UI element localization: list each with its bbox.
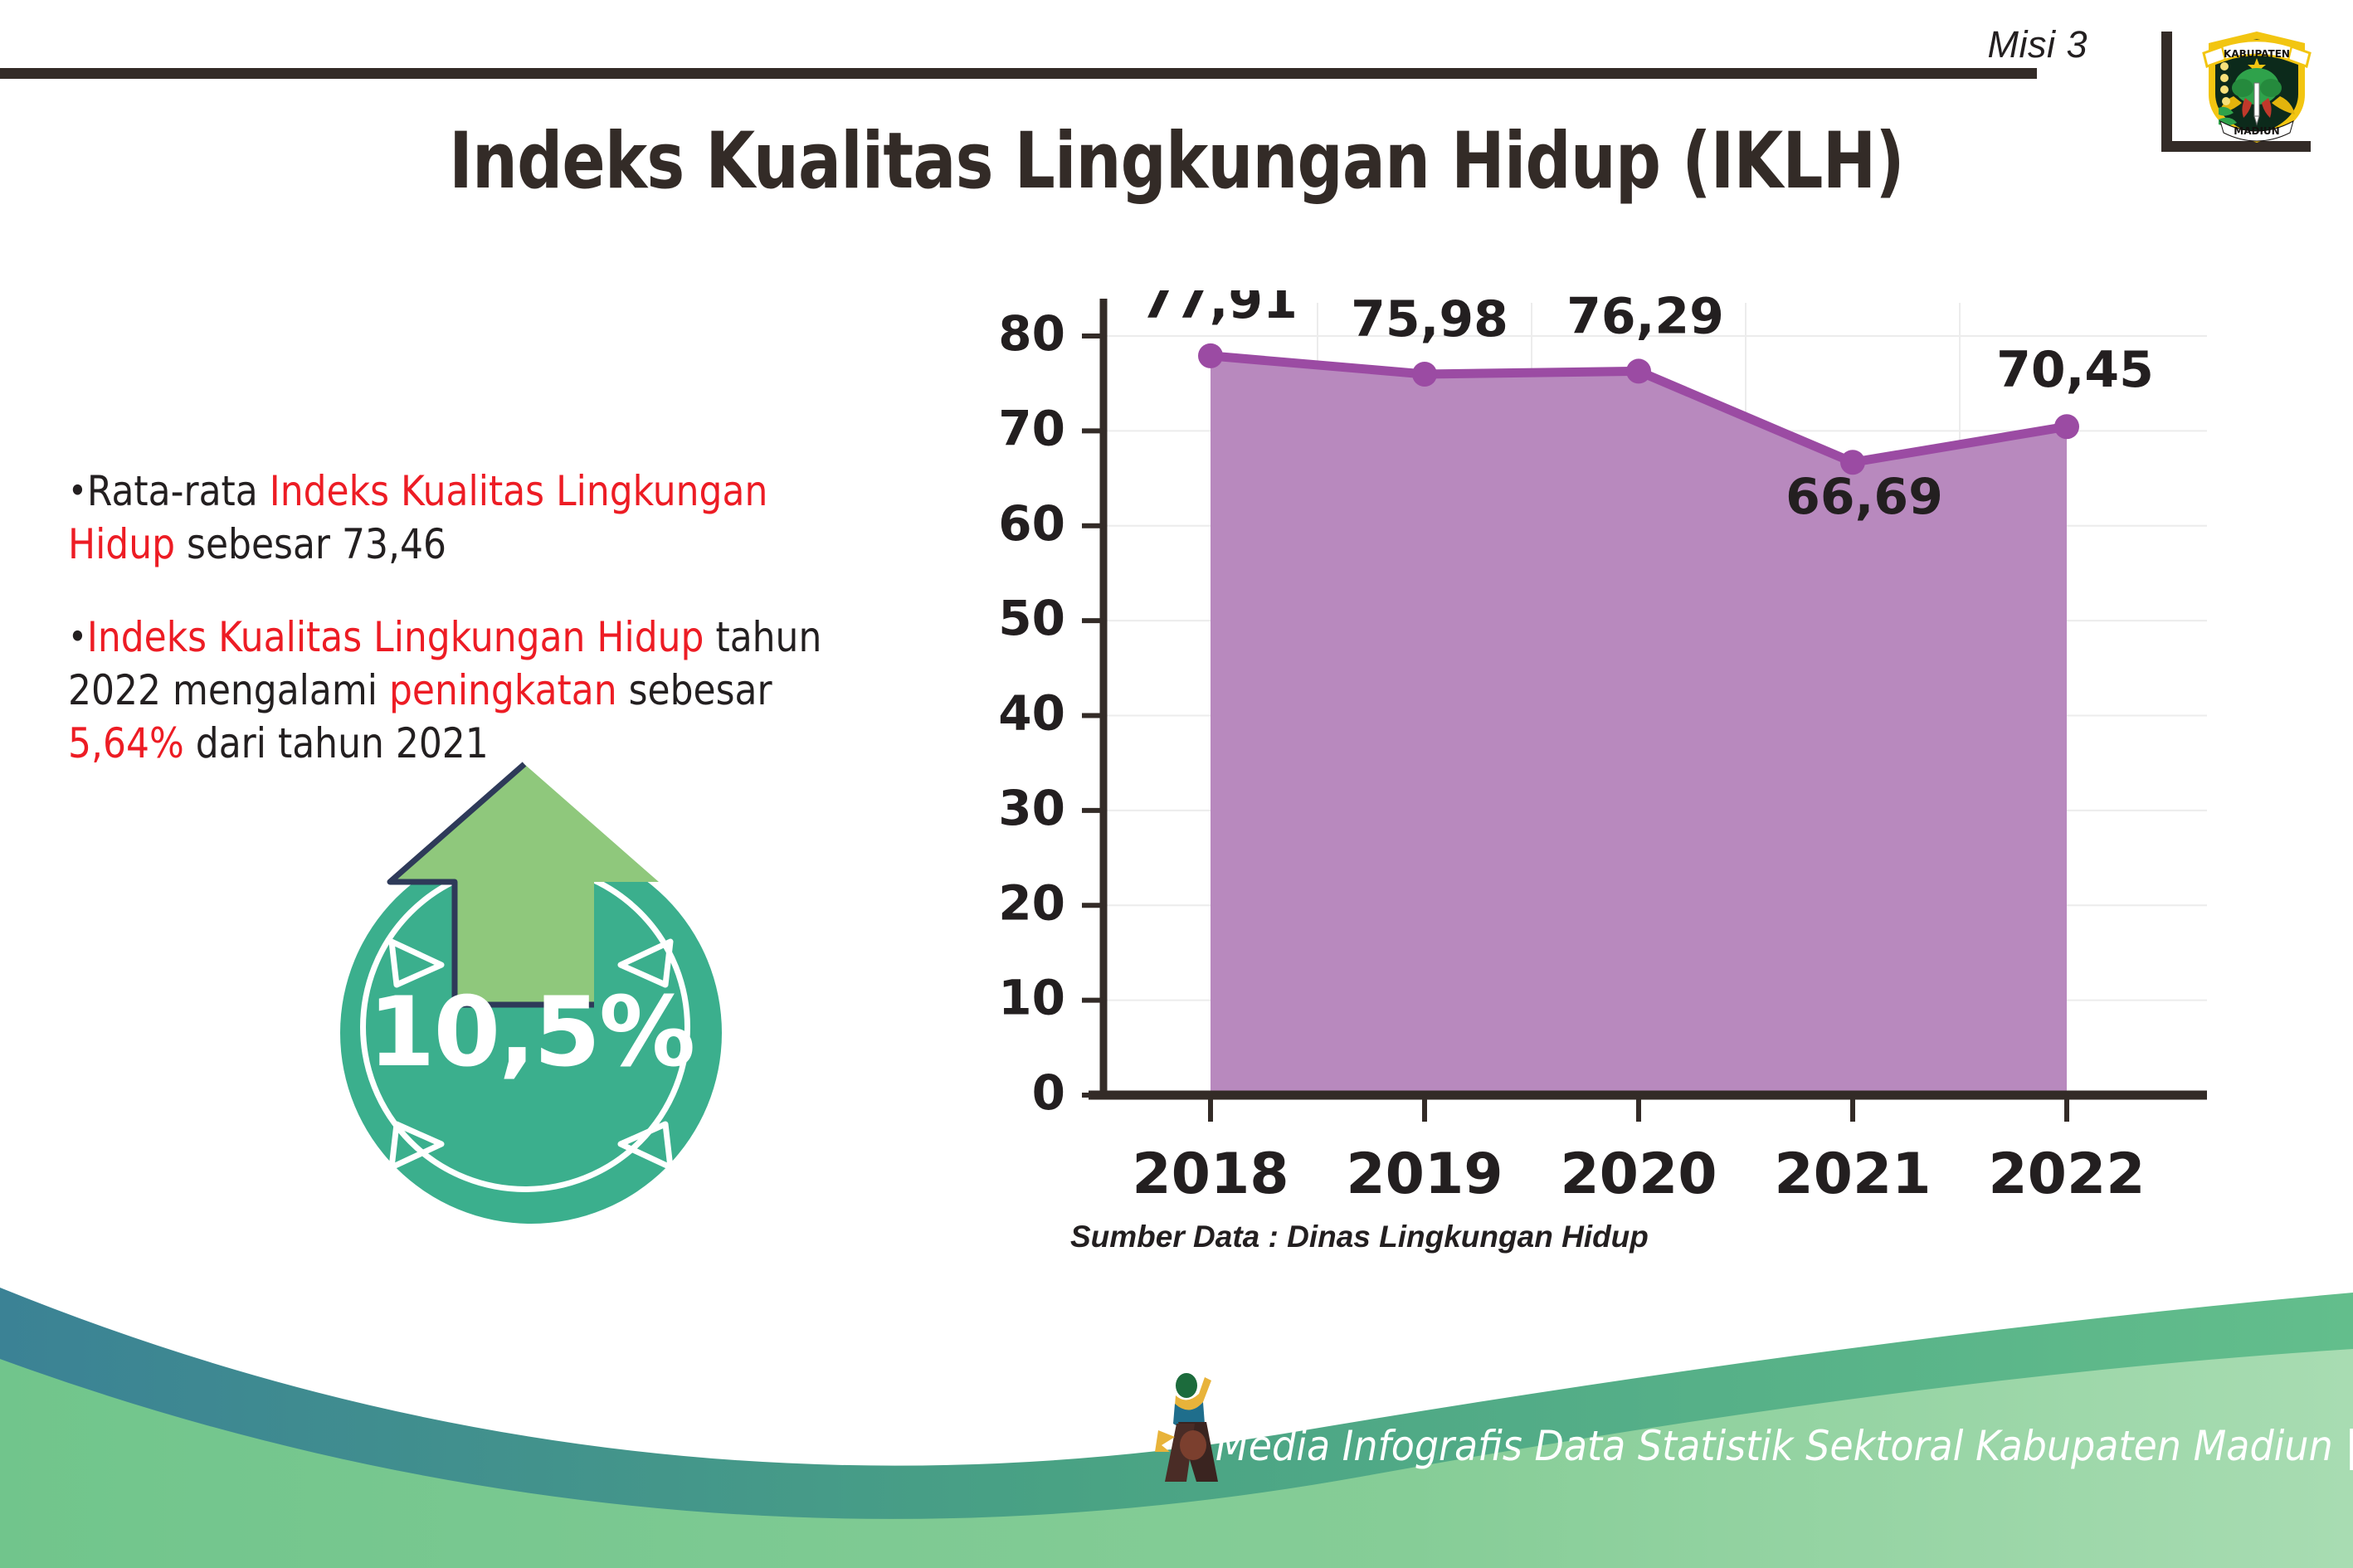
bullet-dot-icon: •	[68, 470, 87, 512]
bullet-1-part-3: sebesar	[617, 666, 772, 714]
chart-y-axis	[1082, 299, 1103, 1095]
bullet-1-part-2: peningkatan	[389, 666, 617, 714]
kabupaten-madiun-crest-icon: KABUPATEN MADIUN	[2190, 15, 2323, 148]
y-tick-label: 10	[998, 970, 1065, 1026]
crest-bottom-text: MADIUN	[2234, 125, 2279, 137]
y-tick-label: 30	[998, 780, 1065, 836]
chart-y-tick-labels: 01020304050607080	[998, 305, 1065, 1121]
crest-top-text: KABUPATEN	[2224, 48, 2290, 60]
page-title: Indeks Kualitas Lingkungan Hidup (IKLH)	[212, 116, 2141, 207]
data-point-label: 77,91	[1140, 290, 1298, 330]
growth-badge: 10,5%	[324, 759, 772, 1224]
y-tick-label: 20	[998, 874, 1065, 931]
bullet-item-increase: •Indeks Kualitas Lingkungan Hidup tahun …	[68, 611, 842, 770]
y-tick-label: 60	[998, 495, 1065, 552]
data-point-label: 70,45	[1996, 341, 2154, 399]
x-tick-label: 2018	[1132, 1142, 1289, 1207]
chart-x-tick-labels: 20182019202020212022	[1132, 1142, 2145, 1207]
y-tick-label: 70	[998, 400, 1065, 456]
data-point-label: 76,29	[1566, 290, 1724, 345]
header-rule	[0, 68, 2037, 79]
bullet-item-average: •Rata-rata Indeks Kualitas Lingkungan Hi…	[68, 465, 842, 571]
iklh-area-chart: 01020304050607080 20182019202020212022 7…	[954, 290, 2248, 1286]
footer-caption: Media Infografis Data Statistik Sektoral…	[1215, 1422, 2353, 1470]
y-tick-label: 50	[998, 590, 1065, 646]
bullet-0-part-2: sebesar 73,46	[175, 520, 446, 568]
chart-area-fill	[1211, 356, 2067, 1095]
bullet-1-part-4: 5,64%	[68, 719, 184, 767]
y-tick-label: 80	[998, 305, 1065, 362]
bullet-1-part-0: Indeks Kualitas Lingkungan Hidup	[87, 613, 704, 661]
bracket-vertical-bar	[2161, 32, 2172, 152]
mission-label: Misi 3	[1987, 23, 2087, 66]
badge-value: 10,5%	[340, 976, 722, 1088]
x-tick-label: 2020	[1560, 1142, 1717, 1207]
chart-x-axis	[1089, 1095, 2207, 1122]
y-tick-label: 40	[998, 685, 1065, 742]
x-tick-label: 2021	[1774, 1142, 1931, 1207]
bullet-dot-icon: •	[68, 616, 87, 658]
infographic-page: Misi 3 KABUPATEN MADIUN Indeks Kualitas …	[0, 0, 2353, 1568]
x-tick-label: 2022	[1988, 1142, 2145, 1207]
data-point-label: 75,98	[1351, 290, 1508, 348]
x-tick-label: 2019	[1346, 1142, 1503, 1207]
y-tick-label: 0	[1032, 1064, 1065, 1121]
bullet-0-part-0: Rata-rata	[87, 467, 270, 515]
chart-source-note: Sumber Data : Dinas Lingkungan Hidup	[1070, 1220, 1649, 1254]
data-point-label: 66,69	[1785, 468, 1943, 526]
bullet-list: •Rata-rata Indeks Kualitas Lingkungan Hi…	[68, 465, 948, 810]
